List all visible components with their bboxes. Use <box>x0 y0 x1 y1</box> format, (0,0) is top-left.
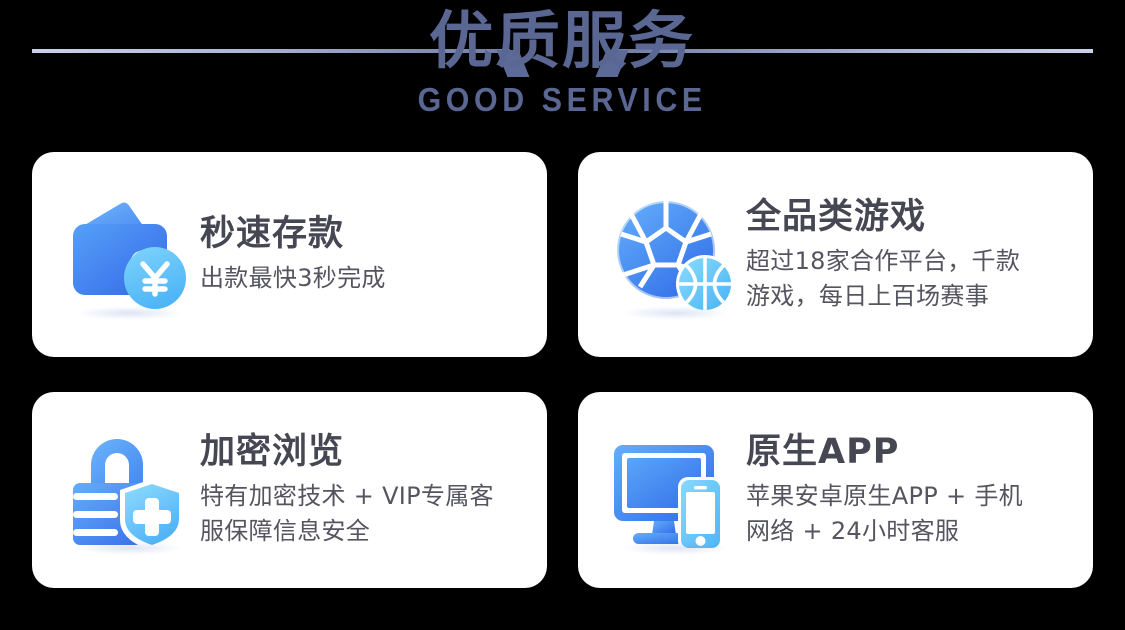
monitor-phone-icon <box>606 423 740 557</box>
icon-shadow <box>622 541 729 555</box>
icon-shadow <box>622 306 729 320</box>
page-title: 优质服务 <box>429 6 695 76</box>
feature-card-native-app[interactable]: 原生APP 苹果安卓原生APP + 手机 网络 + 24小时客服 <box>578 392 1093 588</box>
page-subtitle: GOOD SERVICE <box>418 82 707 118</box>
card-title: 秒速存款 <box>200 213 527 255</box>
card-subtitle: 苹果安卓原生APP + 手机 网络 + 24小时客服 <box>746 479 1073 549</box>
wallet-yen-icon <box>60 188 194 322</box>
feature-card-instant-deposit[interactable]: 秒速存款 出款最快3秒完成 <box>32 152 547 357</box>
soccer-basketball-icon <box>606 188 740 322</box>
card-title: 原生APP <box>746 431 1073 473</box>
lock-shield-icon <box>60 423 194 557</box>
card-text-group: 全品类游戏 超过18家合作平台，千款 游戏，每日上百场赛事 <box>746 196 1073 314</box>
feature-card-grid: 秒速存款 出款最快3秒完成 <box>32 152 1093 588</box>
good-service-banner: 优质服务 GOOD SERVICE <box>0 0 1125 630</box>
icon-shadow <box>76 306 183 320</box>
icon-shadow <box>76 541 183 555</box>
card-text-group: 秒速存款 出款最快3秒完成 <box>200 213 527 296</box>
card-text-group: 加密浏览 特有加密技术 + VIP专属客 服保障信息安全 <box>200 431 527 549</box>
card-subtitle: 超过18家合作平台，千款 游戏，每日上百场赛事 <box>746 244 1073 314</box>
card-subtitle: 出款最快3秒完成 <box>200 261 527 296</box>
card-title: 全品类游戏 <box>746 196 1073 238</box>
card-title: 加密浏览 <box>200 431 527 473</box>
card-text-group: 原生APP 苹果安卓原生APP + 手机 网络 + 24小时客服 <box>746 431 1073 549</box>
page-header: 优质服务 GOOD SERVICE <box>0 0 1125 146</box>
card-subtitle: 特有加密技术 + VIP专属客 服保障信息安全 <box>200 479 527 549</box>
header-title-group: 优质服务 GOOD SERVICE <box>0 6 1125 118</box>
feature-card-encrypted-browsing[interactable]: 加密浏览 特有加密技术 + VIP专属客 服保障信息安全 <box>32 392 547 588</box>
feature-card-all-games[interactable]: 全品类游戏 超过18家合作平台，千款 游戏，每日上百场赛事 <box>578 152 1093 357</box>
